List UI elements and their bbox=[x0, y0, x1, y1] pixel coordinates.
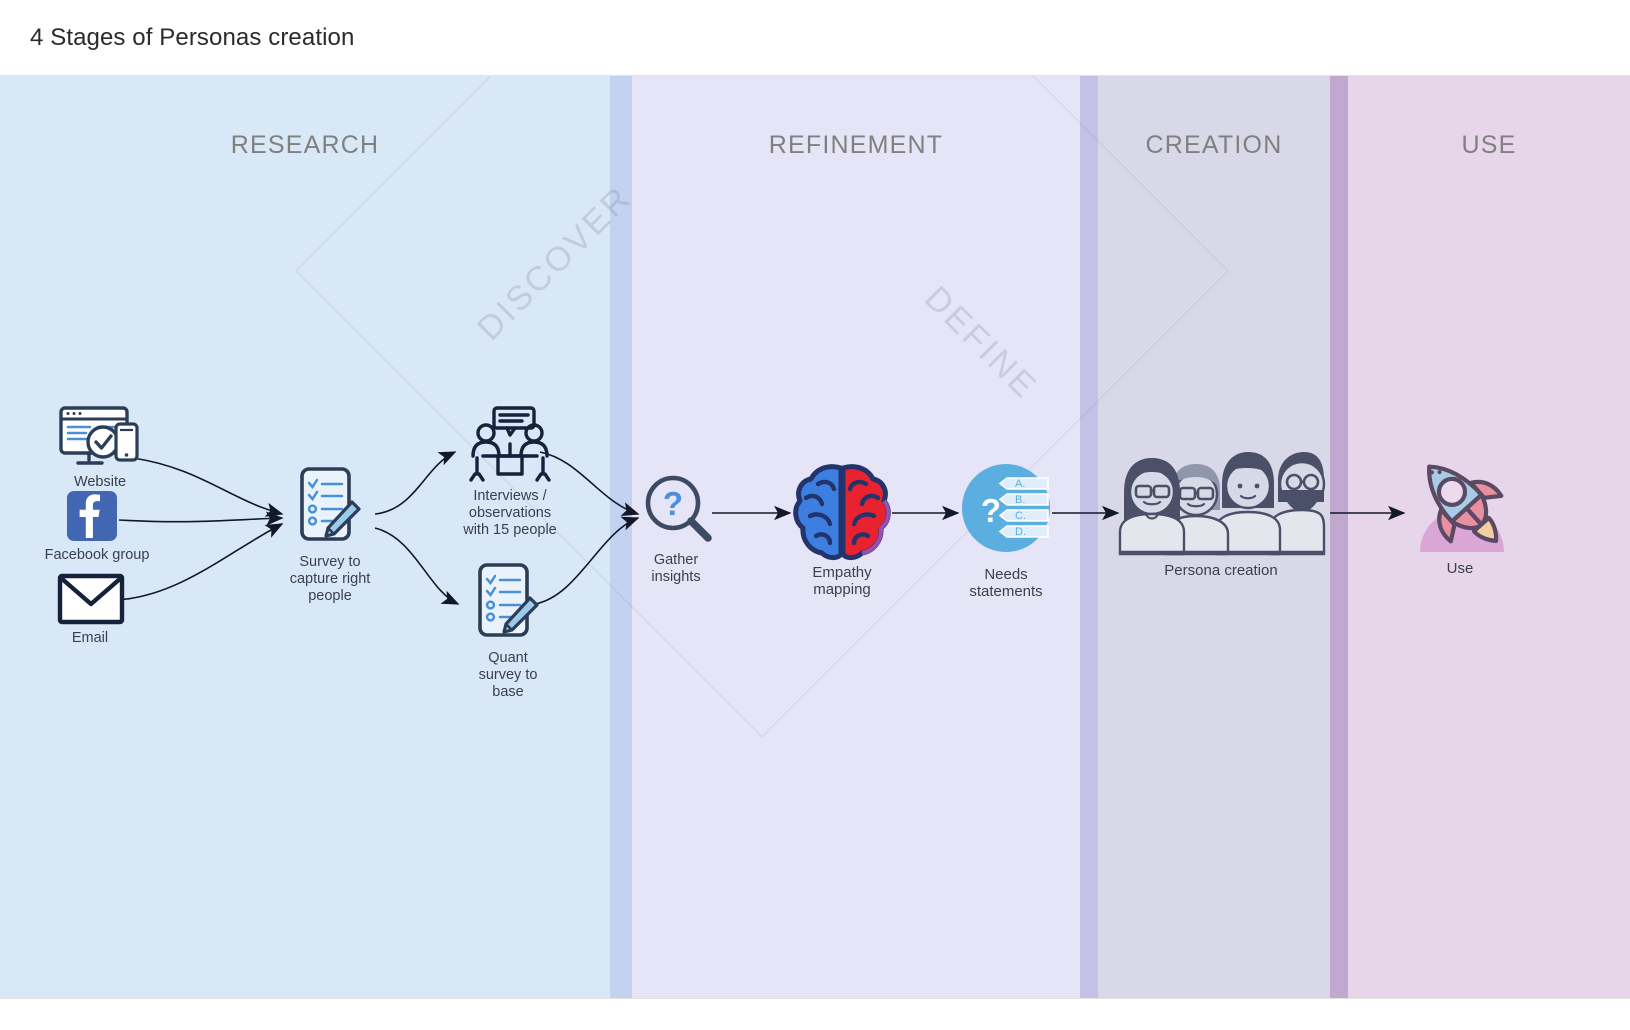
lane-label-creation: CREATION bbox=[1098, 131, 1330, 160]
node-survey-capture[interactable]: Survey to capture right people bbox=[282, 466, 378, 606]
node-persona-creation[interactable]: Persona creation bbox=[1118, 444, 1324, 584]
node-needs-statements[interactable]: ? A.B. C.D. Needs statements bbox=[958, 462, 1054, 592]
svg-text:A.: A. bbox=[1015, 478, 1025, 490]
node-empathy-mapping[interactable]: Empathy mapping bbox=[790, 460, 894, 590]
node-gather-insights[interactable]: ? Gather insights bbox=[636, 472, 716, 592]
lane-label-refinement: REFINEMENT bbox=[632, 131, 1080, 160]
header-bar: 4 Stages of Personas creation bbox=[0, 0, 1630, 76]
node-use[interactable]: Use bbox=[1404, 448, 1516, 588]
rocket-icon bbox=[1408, 448, 1516, 558]
lane-divider-3 bbox=[1330, 76, 1348, 998]
node-label-facebook-group: Facebook group bbox=[22, 547, 172, 564]
node-website[interactable]: Website bbox=[50, 406, 150, 496]
node-label-survey-capture: Survey to capture right people bbox=[255, 554, 405, 605]
node-label-empathy-mapping: Empathy mapping bbox=[767, 564, 917, 598]
node-label-persona-creation: Persona creation bbox=[1121, 562, 1321, 579]
checklist-pencil-icon bbox=[476, 562, 540, 644]
svg-text:?: ? bbox=[663, 485, 683, 522]
node-label-interviews: Interviews / observations with 15 people bbox=[435, 488, 585, 539]
node-label-email: Email bbox=[15, 630, 165, 647]
node-label-quant-survey: Quant survey to base bbox=[433, 650, 583, 701]
checklist-pencil-icon bbox=[298, 466, 362, 548]
node-label-use: Use bbox=[1385, 560, 1535, 577]
page-title: 4 Stages of Personas creation bbox=[30, 24, 354, 52]
lane-label-research: RESEARCH bbox=[0, 131, 610, 160]
node-interviews[interactable]: Interviews / observations with 15 people bbox=[455, 404, 565, 544]
lane-label-use: USE bbox=[1348, 131, 1630, 160]
node-email[interactable]: Email bbox=[40, 574, 140, 659]
diagram-board: 4 Stages of Personas creation RESEARCH R… bbox=[0, 0, 1630, 1030]
node-label-gather-insights: Gather insights bbox=[601, 552, 751, 586]
website-monitor-icon bbox=[56, 406, 144, 468]
node-label-website: Website bbox=[25, 474, 175, 491]
diagram-canvas: RESEARCH REFINEMENT CREATION USE DISCOVE… bbox=[0, 76, 1630, 998]
needs-list-icon: ? A.B. C.D. bbox=[960, 462, 1052, 554]
lane-divider-1 bbox=[610, 76, 632, 998]
svg-text:C.: C. bbox=[1015, 510, 1026, 522]
facebook-icon bbox=[67, 491, 117, 541]
svg-text:D.: D. bbox=[1015, 526, 1026, 538]
node-facebook-group[interactable]: Facebook group bbox=[42, 491, 152, 581]
node-quant-survey[interactable]: Quant survey to base bbox=[460, 562, 556, 702]
people-group-icon bbox=[1118, 444, 1324, 554]
envelope-icon bbox=[58, 574, 124, 624]
brain-icon bbox=[792, 460, 892, 564]
footer-bar bbox=[0, 998, 1630, 1030]
lane-divider-2 bbox=[1080, 76, 1098, 998]
magnifier-question-icon: ? bbox=[642, 472, 714, 544]
svg-text:B.: B. bbox=[1015, 494, 1025, 506]
svg-text:?: ? bbox=[981, 492, 1001, 529]
meeting-people-icon bbox=[467, 404, 553, 484]
node-label-needs-statements: Needs statements bbox=[931, 566, 1081, 600]
